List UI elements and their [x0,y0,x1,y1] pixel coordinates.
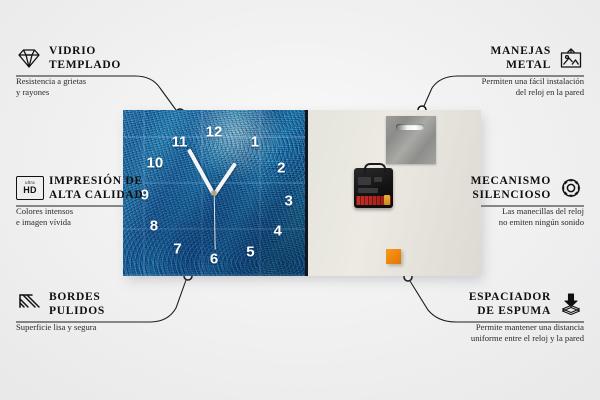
feature-title: BORDES PULIDOS [49,290,105,318]
gear-icon [558,176,584,200]
clock-numeral-3: 3 [284,194,292,209]
feature-description: Las manecillas del reloj no emiten ningú… [384,206,584,229]
feature-description: Resistencia a grietas y rayones [16,76,206,99]
feature-description: Permite mantener una distancia uniforme … [369,322,584,345]
metal-hanger-plate [386,116,436,164]
mechanism-vent-2 [374,177,382,182]
down-arrow-layer-icon [558,292,584,316]
foam-spacer [386,249,401,264]
feature-title: IMPRESIÓN DE ALTA CALIDAD [49,174,143,202]
clock-numeral-1: 1 [251,135,259,150]
feature-title: VIDRIO TEMPLADO [49,44,121,72]
hanger-slot [396,124,424,130]
clock-numeral-6: 6 [210,252,218,267]
feature-title: MECANISMO SILENCIOSO [471,174,551,202]
clock-numeral-10: 10 [147,156,164,171]
polished-edges-icon [16,292,42,316]
feature-espaciador-de-espuma: ESPACIADOR DE ESPUMA Permite mantener un… [369,290,584,345]
feature-description: Permiten una fácil instalación del reloj… [384,76,584,99]
feature-impresion-alta-calidad: ultra HD IMPRESIÓN DE ALTA CALIDAD Color… [16,174,206,229]
clock-center-cap [212,191,217,196]
feature-vidrio-templado: VIDRIO TEMPLADO Resistencia a grietas y … [16,44,206,99]
clock-numeral-7: 7 [173,242,181,257]
clock-numeral-12: 12 [206,124,223,139]
feature-manejas-metal: MANEJAS METAL Permiten una fácil instala… [384,44,584,99]
ultra-hd-icon: ultra HD [16,176,42,200]
feature-description: Superficie lisa y segura [16,322,216,333]
feature-bordes-pulidos: BORDES PULIDOS Superficie lisa y segura [16,290,216,333]
clock-numeral-11: 11 [171,134,187,149]
feature-mecanismo-silencioso: MECANISMO SILENCIOSO Las manecillas [384,174,584,229]
feature-description: Colores intensos e imagen vívida [16,206,206,229]
clock-numeral-2: 2 [277,161,285,176]
diamond-icon [16,46,42,70]
wall-frame-icon [558,46,584,70]
mechanism-vent-1 [358,177,371,185]
infographic-canvas: 12 1 2 3 4 5 6 7 8 9 10 11 [0,0,600,400]
mechanism-vent-3 [358,188,378,193]
feature-title: MANEJAS METAL [491,44,552,72]
clock-numeral-4: 4 [274,224,282,239]
mechanism-hanger-hook [364,163,386,173]
feature-title: ESPACIADOR DE ESPUMA [469,290,551,318]
clock-numeral-5: 5 [246,244,254,259]
